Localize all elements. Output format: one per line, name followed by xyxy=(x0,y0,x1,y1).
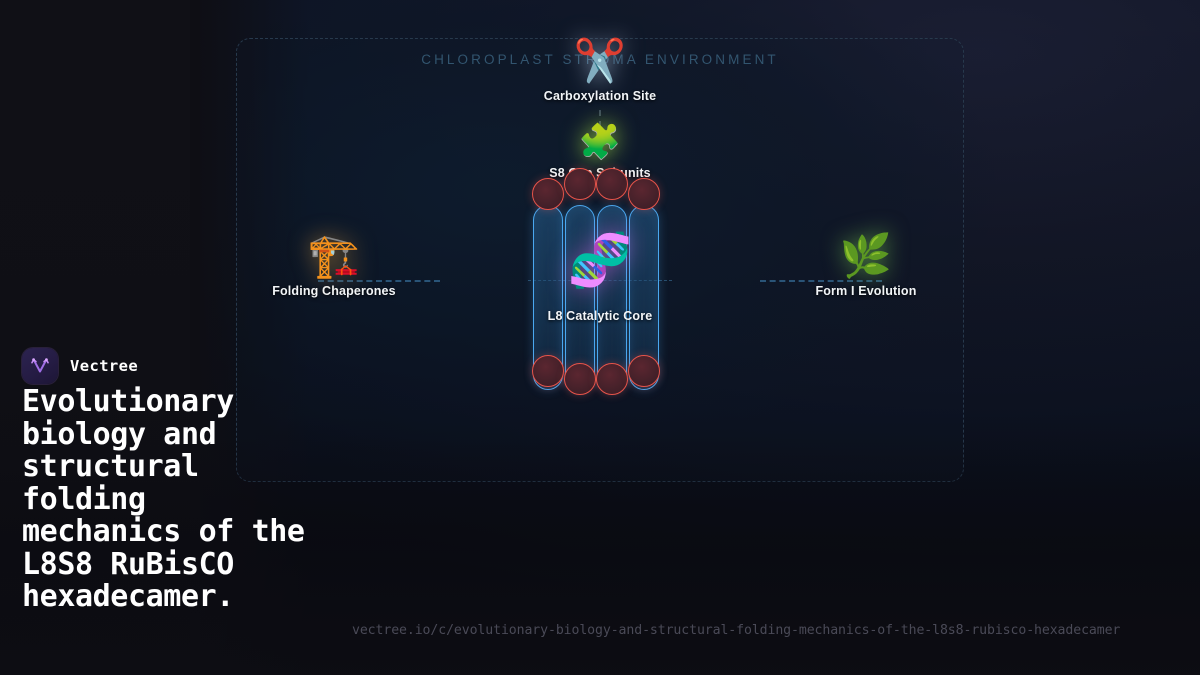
small-subunit-cap xyxy=(596,363,628,395)
small-subunit-cap xyxy=(532,355,564,387)
diagram-node-form-i-evolution[interactable]: 🌿 Form I Evolution xyxy=(766,235,966,298)
diagram-node-carboxylation-site[interactable]: ✂️ Carboxylation Site xyxy=(500,40,700,103)
small-subunit-cap xyxy=(532,178,564,210)
brand[interactable]: Vectree xyxy=(22,348,138,384)
source-url: vectree.io/c/evolutionary-biology-and-st… xyxy=(352,623,1120,638)
puzzle-piece-icon: 🧩 xyxy=(579,125,621,159)
node-label-l8-catalytic-core: L8 Catalytic Core xyxy=(548,309,653,323)
node-label-carboxylation-site: Carboxylation Site xyxy=(544,89,656,103)
small-subunit-cap xyxy=(628,178,660,210)
diagram-node-l8-catalytic-core[interactable]: 🧬 L8 Catalytic Core xyxy=(500,235,700,323)
dna-icon: 🧬 xyxy=(568,235,633,287)
brand-name: Vectree xyxy=(70,357,138,375)
rubisco-complex[interactable]: 🧬 L8 Catalytic Core xyxy=(528,170,672,390)
small-subunit-cap xyxy=(564,168,596,200)
scissors-icon: ✂️ xyxy=(574,40,626,82)
herb-icon: 🌿 xyxy=(840,235,892,277)
diagram-node-folding-chaperones[interactable]: 🏗️ Folding Chaperones xyxy=(234,235,434,298)
screenshot-canvas: CHLOROPLAST STROMA ENVIRONMENT ✂️ Carbox… xyxy=(0,0,1200,675)
small-subunit-cap xyxy=(596,168,628,200)
small-subunit-cap xyxy=(564,363,596,395)
small-subunit-cap xyxy=(628,355,660,387)
node-label-folding-chaperones: Folding Chaperones xyxy=(272,284,396,298)
vectree-tree-mark-icon xyxy=(22,348,58,384)
crane-icon: 🏗️ xyxy=(308,235,360,277)
page-title: Evolutionary biology and structural fold… xyxy=(22,386,322,614)
node-label-form-i-evolution: Form I Evolution xyxy=(815,284,916,298)
